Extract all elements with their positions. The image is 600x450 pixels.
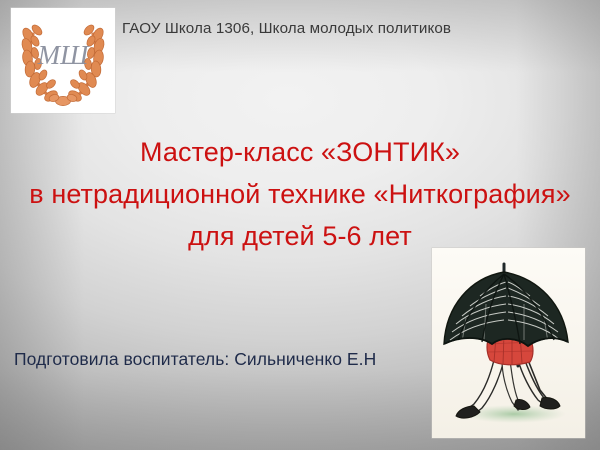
umbrella-walking-person-illustration <box>432 248 585 438</box>
svg-text:МШ: МШ <box>37 40 90 70</box>
title-line-2: в нетрадиционной технике «Ниткография» <box>0 173 600 215</box>
presentation-slide: МШ ГАОУ Школа 1306, Школа молодых полити… <box>0 0 600 450</box>
page-title: Мастер-класс «ЗОНТИК» в нетрадиционной т… <box>0 131 600 257</box>
school-laurel-wreath-logo: МШ <box>11 8 115 113</box>
organization-title: ГАОУ Школа 1306, Школа молодых политиков <box>122 19 562 38</box>
title-line-1: Мастер-класс «ЗОНТИК» <box>0 131 600 173</box>
author-credit: Подготовила воспитатель: Сильниченко Е.Н <box>14 349 376 370</box>
school-logo: МШ <box>11 8 115 113</box>
umbrella-illustration <box>432 248 585 438</box>
